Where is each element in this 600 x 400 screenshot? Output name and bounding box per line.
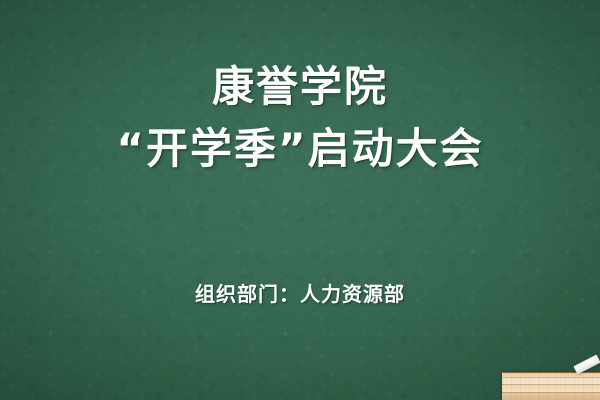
presentation-slide: 康誉学院 “开学季”启动大会 组织部门：人力资源部: [0, 0, 600, 400]
slide-content: 康誉学院 “开学季”启动大会 组织部门：人力资源部: [0, 0, 600, 400]
slide-title-block: 康誉学院 “开学季”启动大会: [0, 62, 600, 173]
slide-title-line-2: “开学季”启动大会: [0, 124, 600, 174]
chalk-ledge-grain: [502, 372, 600, 400]
slide-title-line-1: 康誉学院: [0, 62, 600, 112]
slide-subtitle: 组织部门：人力资源部: [0, 278, 600, 307]
chalk-ledge-icon: [502, 372, 600, 400]
